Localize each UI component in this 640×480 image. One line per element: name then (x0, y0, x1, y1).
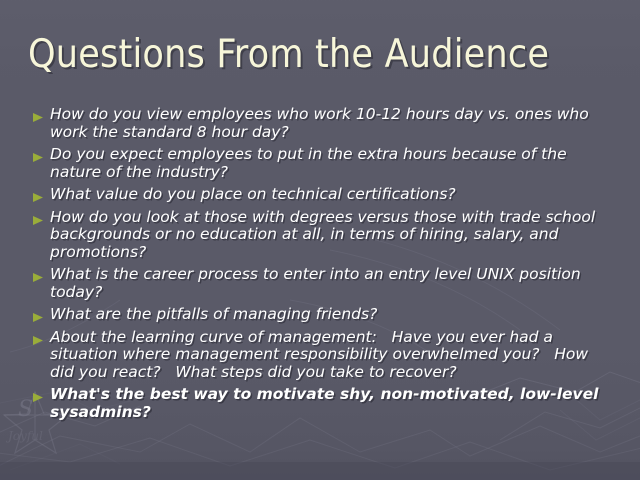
triangle-right-icon (33, 393, 45, 402)
triangle-right-icon (33, 216, 45, 225)
bullet-item: About the learning curve of management: … (33, 329, 613, 382)
bullet-item: What are the pitfalls of managing friend… (33, 306, 613, 324)
bullet-item: What is the career process to enter into… (33, 266, 613, 301)
bullet-item: What's the best way to motivate shy, non… (33, 386, 613, 421)
bullet-text: What's the best way to motivate shy, non… (50, 386, 613, 421)
bullet-list: How do you view employees who work 10-12… (33, 106, 613, 426)
triangle-right-icon (33, 193, 45, 202)
bullet-text: Do you expect employees to put in the ex… (50, 146, 613, 181)
triangle-right-icon (33, 113, 45, 122)
bullet-text: How do you view employees who work 10-12… (50, 106, 613, 141)
bullet-item: Do you expect employees to put in the ex… (33, 146, 613, 181)
background-bottom-band (0, 462, 640, 480)
svg-text:Joyful: Joyful (5, 429, 43, 443)
bullet-item: How do you look at those with degrees ve… (33, 209, 613, 262)
triangle-right-icon (33, 336, 45, 345)
bullet-text: What are the pitfalls of managing friend… (50, 306, 613, 324)
slide-title: Questions From the Audience (28, 32, 618, 78)
bullet-text: What is the career process to enter into… (50, 266, 613, 301)
bullet-text: What value do you place on technical cer… (50, 186, 613, 204)
triangle-right-icon (33, 273, 45, 282)
triangle-right-icon (33, 313, 45, 322)
bullet-item: What value do you place on technical cer… (33, 186, 613, 204)
triangle-right-icon (33, 153, 45, 162)
bullet-item: How do you view employees who work 10-12… (33, 106, 613, 141)
bullet-text: About the learning curve of management: … (50, 329, 613, 382)
bullet-text: How do you look at those with degrees ve… (50, 209, 613, 262)
svg-text:S: S (18, 397, 33, 422)
presentation-slide: S Joyful Questions From the Audience How… (0, 0, 640, 480)
